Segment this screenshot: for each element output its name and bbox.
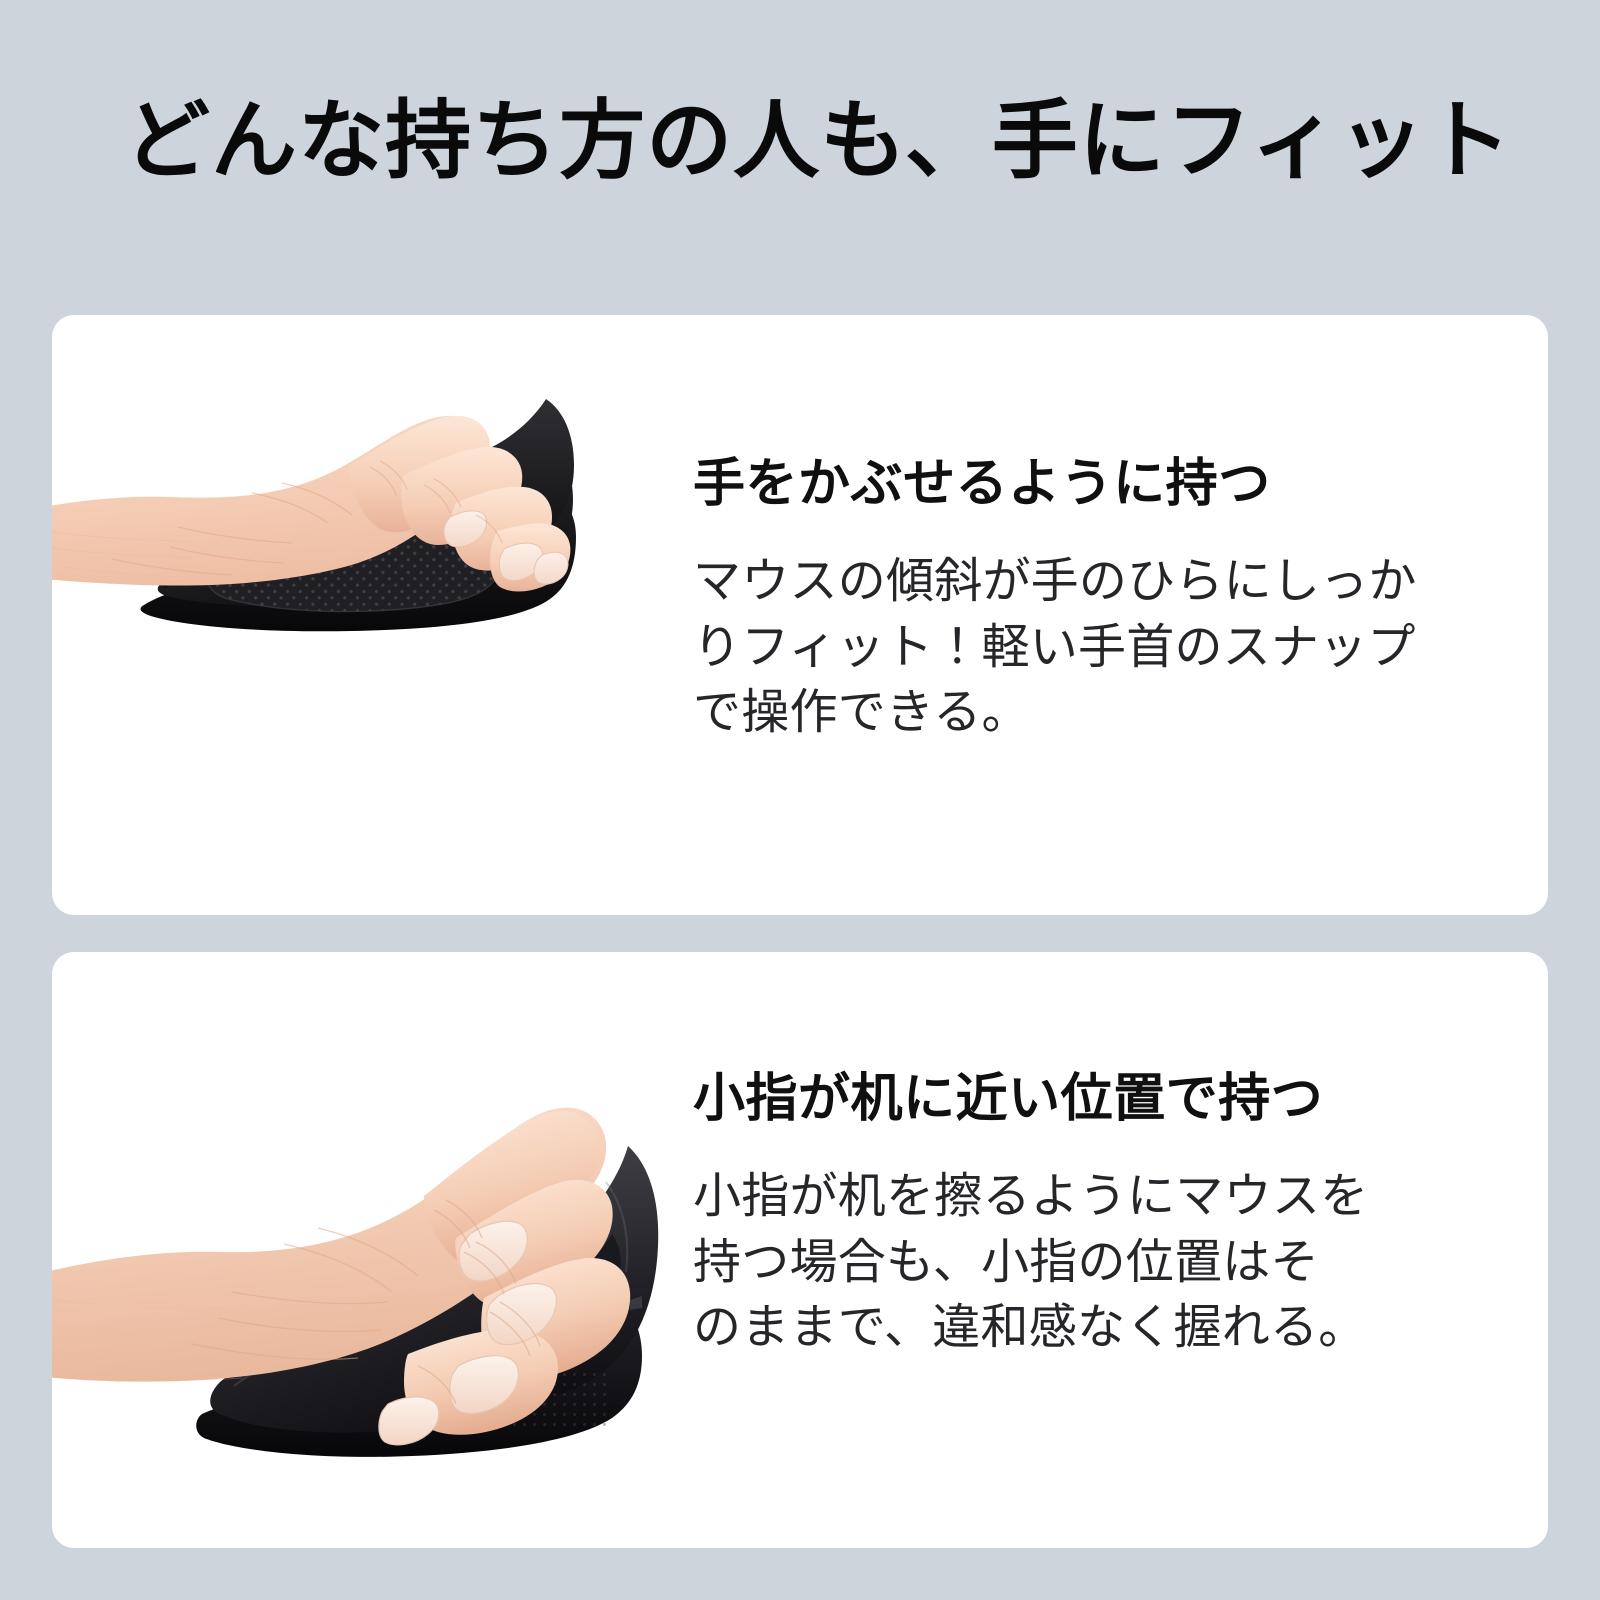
card-body: マウスの傾斜が手のひらにしっか りフィット！軽い手首のスナップ で操作できる。 xyxy=(693,549,1493,746)
body-line: りフィット！軽い手首のスナップ xyxy=(693,615,1493,681)
body-line: 小指が机を擦るようにマウスを xyxy=(693,1164,1493,1230)
card-text-block: 手をかぶせるように持つ マウスの傾斜が手のひらにしっか りフィット！軽い手首のス… xyxy=(693,455,1493,746)
product-feature-panel: { "page": { "title": "どんな持ち方の人も、手にフィット",… xyxy=(0,0,1600,1600)
card-body: 小指が机を擦るようにマウスを 持つ場合も、小指の位置はそ のままで、違和感なく握… xyxy=(693,1164,1493,1361)
body-line: 持つ場合も、小指の位置はそ xyxy=(693,1230,1493,1296)
card-text-block: 小指が机に近い位置で持つ 小指が机を擦るようにマウスを 持つ場合も、小指の位置は… xyxy=(693,1070,1493,1361)
feature-card-pinky-grip: 小指が机に近い位置で持つ 小指が机を擦るようにマウスを 持つ場合も、小指の位置は… xyxy=(52,952,1548,1548)
body-line: のままで、違和感なく握れる。 xyxy=(693,1295,1493,1361)
body-line: マウスの傾斜が手のひらにしっか xyxy=(693,549,1493,615)
photo-hand-palm-over-mouse: d Style xyxy=(52,315,697,915)
card-heading: 小指が机に近い位置で持つ xyxy=(693,1070,1493,1130)
feature-card-palm-grip: d Style xyxy=(52,315,1548,915)
body-line: で操作できる。 xyxy=(693,680,1493,746)
photo-hand-gripping-mouse xyxy=(52,952,697,1548)
page-title: どんな持ち方の人も、手にフィット xyxy=(124,96,1504,186)
card-heading: 手をかぶせるように持つ xyxy=(693,455,1493,515)
